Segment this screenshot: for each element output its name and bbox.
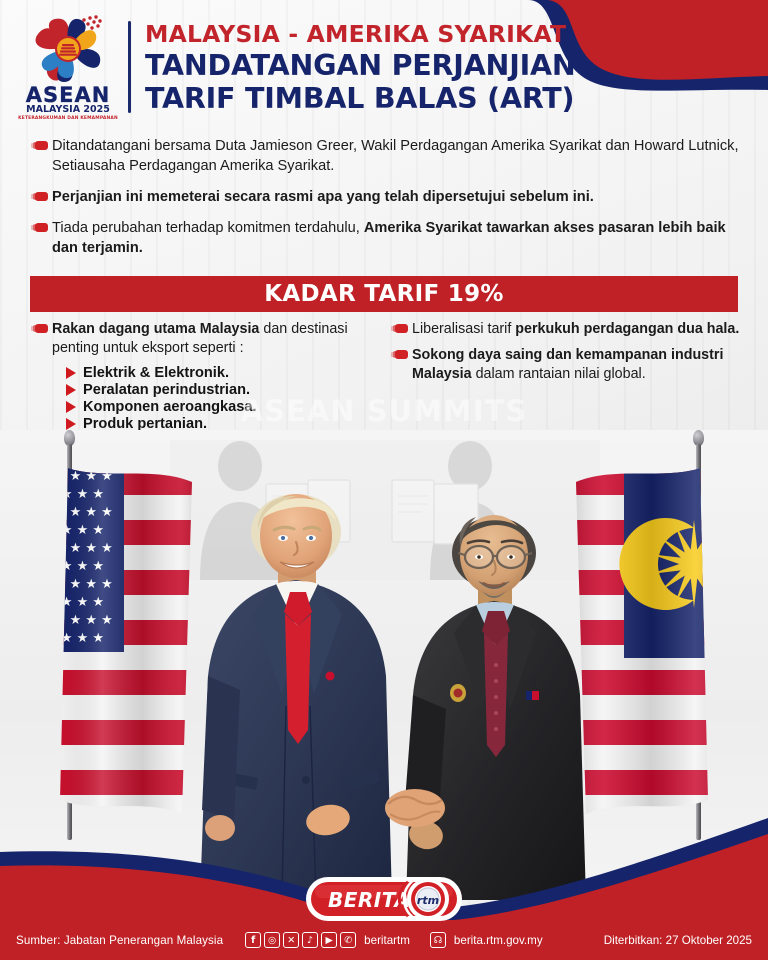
footer-social-group: f ◎ ✕ ♪ ▶ ✆ beritartm ☊ berita.rtm.gov.m… (245, 932, 542, 948)
left-column-lead-text: Rakan dagang utama Malaysia dan destinas… (52, 320, 382, 358)
arrow-right-icon (66, 401, 76, 413)
united-states-flag: ★ ★ ★ ★ ★ ★ ★ ★ ★ ★ ★ ★ ★ ★ ★ ★ ★ ★ ★ ★ … (32, 462, 200, 832)
export-item: Elektrik & Elektronik. (66, 365, 382, 381)
header-titles: MALAYSIA - AMERIKA SYARIKAT TANDATANGAN … (145, 20, 768, 114)
instagram-icon[interactable]: ◎ (264, 932, 280, 948)
right-item-1-plain: Liberalisasi tarif (412, 321, 515, 337)
poster-header: ASEAN MALAYSIA 2025 KETERANGKUMAN DAN KE… (0, 8, 768, 126)
right-column-item-2: Sokong daya saing dan kemampanan industr… (390, 346, 746, 384)
tariff-rate-label: KADAR TARIF 19% (264, 281, 503, 307)
poster-footer: Sumber: Jabatan Penerangan Malaysia f ◎ … (0, 920, 768, 960)
arrow-right-icon (66, 384, 76, 396)
arrow-right-icon (66, 367, 76, 379)
export-item-label: Elektrik & Elektronik. (83, 365, 229, 381)
rtm-wordmark: rtm (417, 894, 439, 907)
header-divider (128, 21, 131, 113)
whatsapp-icon[interactable]: ✆ (340, 932, 356, 948)
left-lead-bold: Rakan dagang utama Malaysia (52, 321, 259, 337)
x-twitter-icon[interactable]: ✕ (283, 932, 299, 948)
left-column-lead: Rakan dagang utama Malaysia dan destinas… (30, 320, 382, 358)
bullet-marker-icon (30, 136, 52, 176)
youtube-icon[interactable]: ▶ (321, 932, 337, 948)
export-item: Komponen aeroangkasa. (66, 399, 382, 415)
footer-published-date: Diterbitkan: 27 Oktober 2025 (604, 934, 752, 947)
bullet-marker-icon (30, 187, 52, 207)
key-points-list: Ditandatangani bersama Duta Jamieson Gre… (30, 136, 746, 269)
asean-logo: ASEAN MALAYSIA 2025 KETERANGKUMAN DAN KE… (14, 14, 122, 121)
globe-icon[interactable]: ☊ (430, 932, 446, 948)
key-point-1: Ditandatangani bersama Duta Jamieson Gre… (30, 136, 746, 176)
export-item: Peralatan perindustrian. (66, 382, 382, 398)
infographic-poster: ASEAN MALAYSIA 2025 KETERANGKUMAN DAN KE… (0, 0, 768, 960)
right-item-1-bold: perkukuh perdagangan dua hala. (515, 321, 739, 337)
right-item-2-text: Sokong daya saing dan kemampanan industr… (412, 346, 746, 384)
tiktok-icon[interactable]: ♪ (302, 932, 318, 948)
arrow-right-icon (66, 418, 76, 430)
right-column-item-1: Liberalisasi tarif perkukuh perdagangan … (390, 320, 746, 339)
asean-tagline: KETERANGKUMAN DAN KEMAMPANAN (18, 116, 118, 121)
social-handle: beritartm (364, 934, 410, 947)
facebook-icon[interactable]: f (245, 932, 261, 948)
bullet-marker-icon (390, 320, 412, 339)
us-flag-group: ★ ★ ★ ★ ★ ★ ★ ★ ★ ★ ★ ★ ★ ★ ★ ★ ★ ★ ★ ★ … (22, 440, 182, 840)
tariff-rate-banner: KADAR TARIF 19% (30, 276, 738, 312)
bullet-marker-icon (30, 320, 52, 358)
export-item-label: Peralatan perindustrian. (83, 382, 250, 398)
header-title-line1: TANDATANGAN PERJANJIAN (145, 50, 588, 81)
key-point-3-text: Tiada perubahan terhadap komitmen terdah… (52, 218, 746, 258)
header-title-line2: TARIF TIMBAL BALAS (ART) (145, 83, 588, 114)
key-point-3: Tiada perubahan terhadap komitmen terdah… (30, 218, 746, 258)
footer-website[interactable]: berita.rtm.gov.my (454, 934, 543, 947)
footer-source: Sumber: Jabatan Penerangan Malaysia (16, 934, 223, 947)
right-item-2-tail: dalam rantaian nilai global. (472, 366, 646, 382)
key-point-2-text: Perjanjian ini memeterai secara rasmi ap… (52, 187, 594, 207)
berita-rtm-badge: BERITA rtm (304, 874, 464, 924)
bullet-marker-icon (390, 346, 412, 384)
right-item-1-text: Liberalisasi tarif perkukuh perdagangan … (412, 320, 739, 339)
asean-subtitle: MALAYSIA 2025 (26, 105, 110, 115)
export-item-label: Komponen aeroangkasa. (83, 399, 257, 415)
asean-wordmark: ASEAN (26, 86, 111, 105)
key-point-2: Perjanjian ini memeterai secara rasmi ap… (30, 187, 746, 207)
key-point-3-plain: Tiada perubahan terhadap komitmen terdah… (52, 220, 364, 236)
asean-swirl-icon (26, 14, 110, 84)
header-eyebrow: MALAYSIA - AMERIKA SYARIKAT (145, 20, 588, 48)
key-point-1-text: Ditandatangani bersama Duta Jamieson Gre… (52, 136, 746, 176)
bullet-marker-icon (30, 218, 52, 258)
